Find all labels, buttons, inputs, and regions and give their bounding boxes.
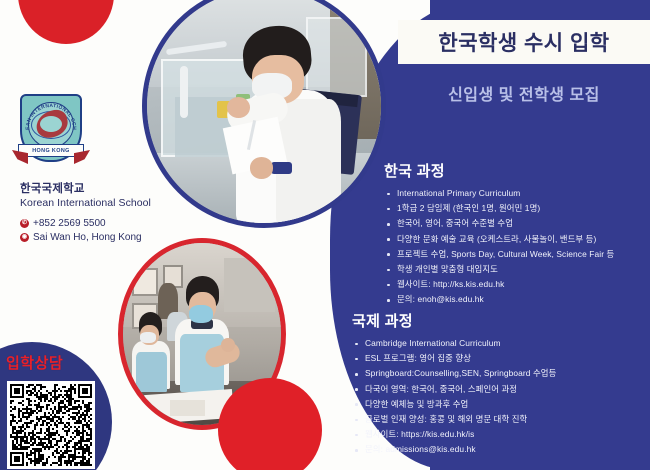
crest-banner-label: HONG KONG <box>32 148 69 154</box>
qr-code[interactable] <box>7 381 95 469</box>
subheader-band: 신입생 및 전학생 모집 <box>398 78 650 108</box>
list-item-email[interactable]: 문의: enoh@kis.edu.hk <box>384 292 650 307</box>
school-crest-logo: KOREAN INTERNATIONAL SCHOOL HONG KONG <box>12 92 90 174</box>
list-item-website[interactable]: 웹사이트: https://kis.edu.hk/is <box>352 427 650 442</box>
list-item: 프로젝트 수업, Sports Day, Cultural Week, Scie… <box>384 247 650 262</box>
header-band: 한국학생 수시 입학 <box>398 20 650 64</box>
korean-program-list: International Primary Curriculum 1학급 2 담… <box>384 186 650 308</box>
list-item: 다국어 영역: 한국어, 중국어, 스페인어 과정 <box>352 382 650 397</box>
list-item: ESL 프로그램: 영어 집중 향상 <box>352 351 650 366</box>
list-item: Springboard:Counselling,SEN, Springboard… <box>352 366 650 381</box>
qr-code-canvas[interactable] <box>10 384 92 466</box>
korean-program-heading: 한국 과정 <box>384 160 650 181</box>
list-item-website[interactable]: 웹사이트: http://ks.kis.edu.hk <box>384 277 650 292</box>
contact-phone-row[interactable]: ✆ +852 2569 5500 <box>20 218 190 229</box>
admissions-poster: 한국학생 수시 입학 신입생 및 전학생 모집 한국 과정 Internatio… <box>0 0 650 470</box>
list-item: 다양한 예체능 및 방과후 수업 <box>352 397 650 412</box>
contact-address-text: Sai Wan Ho, Hong Kong <box>33 232 142 243</box>
korean-program-section: 한국 과정 International Primary Curriculum 1… <box>384 160 650 308</box>
list-item: 1학급 2 담임제 (한국인 1명, 원어민 1명) <box>384 201 650 216</box>
international-program-list: Cambridge International Curriculum ESL 프… <box>352 336 650 458</box>
list-item: 글로벌 인재 양성: 홍콩 및 해외 명문 대학 진학 <box>352 412 650 427</box>
decorative-red-circle-top <box>18 0 114 44</box>
page-title: 한국학생 수시 입학 <box>438 27 609 57</box>
phone-icon: ✆ <box>20 219 29 228</box>
list-item-email[interactable]: 문의: admissions@kis.edu.hk <box>352 442 650 457</box>
list-item: 한국어, 영어, 중국어 수준별 수업 <box>384 216 650 231</box>
crest-arc-label: KOREAN INTERNATIONAL SCHOOL <box>24 98 77 130</box>
international-program-heading: 국제 과정 <box>352 310 650 331</box>
svg-text:KOREAN INTERNATIONAL SCHOOL: KOREAN INTERNATIONAL SCHOOL <box>24 98 77 130</box>
school-name-block: 한국국제학교 Korean International School <box>20 180 180 209</box>
location-pin-icon: ◉ <box>20 233 29 242</box>
contact-block: ✆ +852 2569 5500 ◉ Sai Wan Ho, Hong Kong <box>20 218 190 246</box>
international-program-section: 국제 과정 Cambridge International Curriculum… <box>352 310 650 458</box>
list-item: Cambridge International Curriculum <box>352 336 650 351</box>
page-subtitle: 신입생 및 전학생 모집 <box>448 81 600 105</box>
contact-address-row: ◉ Sai Wan Ho, Hong Kong <box>20 232 190 243</box>
list-item: International Primary Curriculum <box>384 186 650 201</box>
decorative-red-circle-bottom <box>218 378 322 470</box>
school-name-korean: 한국국제학교 <box>20 180 180 196</box>
list-item: 다양한 문화 예술 교육 (오케스트라, 사물놀이, 밴드부 등) <box>384 232 650 247</box>
photo-science-lab-content <box>147 0 381 223</box>
list-item: 학생 개인별 맞춤형 대입지도 <box>384 262 650 277</box>
qr-label: 입학상담 <box>6 352 63 373</box>
contact-phone-text: +852 2569 5500 <box>33 218 106 229</box>
school-name-english: Korean International School <box>20 197 180 209</box>
